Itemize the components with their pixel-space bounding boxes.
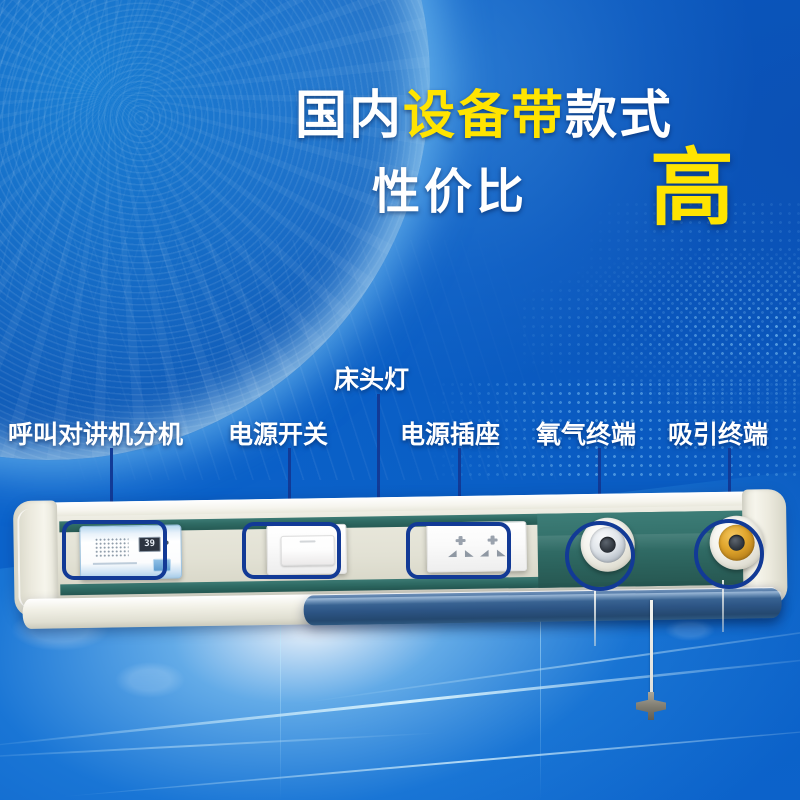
power-socket-device[interactable] <box>426 521 527 573</box>
headline-part-style: 款式 <box>565 86 673 146</box>
power-switch-device[interactable] <box>266 524 347 575</box>
unit-blue-handle-rail <box>303 588 781 626</box>
headline-part-equipment-belt: 设备带 <box>403 86 565 146</box>
headline-part-domestic: 国内 <box>295 86 403 146</box>
status-led-indicator <box>165 541 169 545</box>
pull-cord[interactable] <box>650 600 653 698</box>
speaker-grille-icon <box>95 537 129 558</box>
socket-pin-left <box>480 550 489 557</box>
product-banner: 国内设备带款式 性价比 高 呼叫对讲机分机 电源开关 床头灯 电源插座 氧气终端… <box>0 0 800 800</box>
headline-line-2-value: 性价比 <box>372 168 528 216</box>
socket-outlet-left[interactable] <box>446 536 476 560</box>
headline-block: 国内设备带款式 性价比 高 <box>0 0 800 250</box>
callout-label-nurse-call-intercom: 呼叫对讲机分机 <box>8 415 183 451</box>
grid-line-right <box>540 620 541 800</box>
callout-label-suction-terminal: 吸引终端 <box>668 415 768 451</box>
callout-label-oxygen-terminal: 氧气终端 <box>536 415 636 451</box>
headline-line-2-emphasis: 高 <box>650 146 734 230</box>
socket-pin-vertical <box>459 536 463 545</box>
intercom-display: 39 <box>138 537 160 552</box>
rocker-switch-paddle[interactable] <box>280 535 334 566</box>
socket-pin-right <box>497 549 506 556</box>
nurse-call-intercom-device[interactable]: 39 <box>79 524 182 580</box>
socket-outlet-right[interactable] <box>478 535 508 559</box>
socket-pin-right <box>465 550 474 557</box>
intercom-divider-line <box>93 562 137 564</box>
bed-head-unit: 39 <box>17 491 784 643</box>
socket-pin-vertical <box>491 536 495 545</box>
suction-terminal-device[interactable] <box>709 515 764 570</box>
callout-label-power-switch: 电源开关 <box>228 415 328 451</box>
oxygen-terminal-device[interactable] <box>580 517 635 572</box>
oxygen-terminal-cord <box>594 590 596 646</box>
suction-terminal-cord <box>722 580 724 632</box>
callout-label-power-socket: 电源插座 <box>400 415 500 451</box>
headline-line-1: 国内设备带款式 <box>295 90 673 142</box>
callout-label-bed-lamp: 床头灯 <box>334 360 409 396</box>
socket-pin-left <box>448 550 457 557</box>
grid-line-left <box>280 620 281 800</box>
intercom-call-button[interactable] <box>153 559 171 572</box>
